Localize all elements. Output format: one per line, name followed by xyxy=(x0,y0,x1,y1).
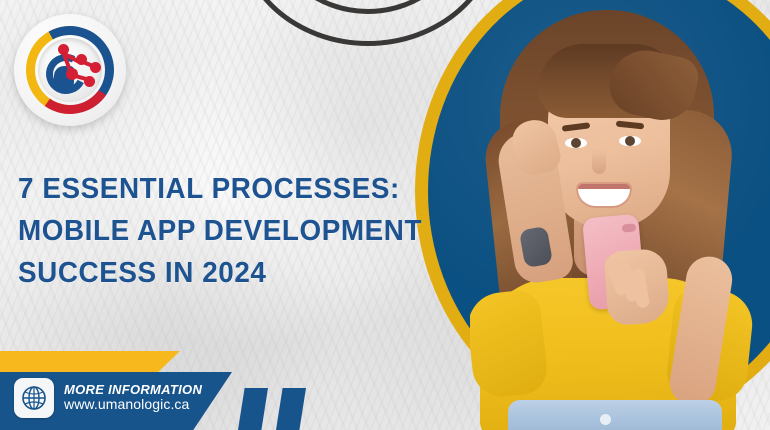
jeans-button xyxy=(600,414,611,425)
headline-line-2: Mobile App Development xyxy=(18,210,421,252)
footer-label: MORE INFORMATION xyxy=(64,383,202,398)
footer-url[interactable]: www.umanologic.ca xyxy=(64,397,202,413)
logo-network-node xyxy=(76,54,87,65)
smiling-mouth xyxy=(578,184,630,206)
footer-text-block: MORE INFORMATION www.umanologic.ca xyxy=(64,383,202,413)
logo-network-node xyxy=(66,68,78,80)
iris-right xyxy=(625,136,635,146)
globe-icon xyxy=(14,378,54,418)
woman-with-smartphone-photo xyxy=(470,0,770,430)
denim-jeans xyxy=(508,400,722,430)
nose xyxy=(592,150,606,174)
logo-network-node xyxy=(58,44,69,55)
sleeve-left xyxy=(470,288,549,399)
marketing-banner: 7 Essential Processes: Mobile App Develo… xyxy=(0,0,770,430)
banner-headline: 7 Essential Processes: Mobile App Develo… xyxy=(18,168,421,294)
iris-left xyxy=(571,138,581,148)
umanologic-logo[interactable] xyxy=(14,14,126,126)
footer-contact-block[interactable]: MORE INFORMATION www.umanologic.ca xyxy=(14,378,202,418)
headline-line-1: 7 Essential Processes: xyxy=(18,168,421,210)
logo-network-node xyxy=(90,62,101,73)
headline-line-3: Success in 2024 xyxy=(18,252,421,294)
footer-yellow-band xyxy=(0,351,180,373)
logo-network-node xyxy=(84,76,95,87)
